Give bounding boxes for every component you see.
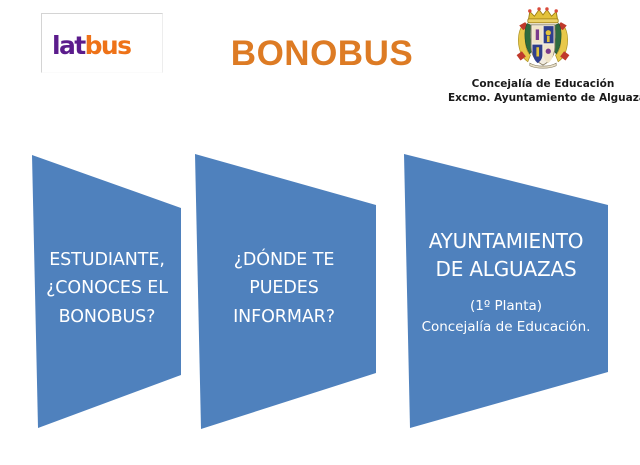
panel-estudiante-line-2: ¿CONOCES EL (26, 274, 188, 302)
panel-donde-informar[interactable]: ¿DÓNDE TE PUEDES INFORMAR? (190, 150, 382, 435)
panel-estudiante-line-1: ESTUDIANTE, (26, 246, 188, 274)
latbus-logo-part2: bus (85, 31, 131, 60)
crest-caption: Concejalía de Educación Excmo. Ayuntamie… (448, 77, 638, 105)
panel-ayuntamiento-text: AYUNTAMIENTO DE ALGUAZAS (1º Planta) Con… (398, 150, 614, 338)
latbus-logo-box: latbus (41, 13, 163, 73)
header-band: latbus BONOBUS (0, 0, 640, 140)
panel-estudiante-text: ESTUDIANTE, ¿CONOCES EL BONOBUS? (26, 150, 188, 331)
panel-ayuntamiento-line-1: AYUNTAMIENTO (398, 228, 614, 256)
crest-caption-line-2: Excmo. Ayuntamiento de Alguazas (448, 91, 638, 105)
panel-donde-informar-line-2: PUEDES (190, 274, 378, 302)
panel-ayuntamiento[interactable]: AYUNTAMIENTO DE ALGUAZAS (1º Planta) Con… (398, 150, 614, 435)
panel-donde-informar-text: ¿DÓNDE TE PUEDES INFORMAR? (190, 150, 382, 331)
crest-block: Concejalía de Educación Excmo. Ayuntamie… (448, 5, 638, 105)
latbus-logo-part1: lat (52, 31, 85, 60)
panel-estudiante[interactable]: ESTUDIANTE, ¿CONOCES EL BONOBUS? (26, 150, 188, 435)
panel-ayuntamiento-line-2: DE ALGUAZAS (398, 256, 614, 284)
crest-caption-line-1: Concejalía de Educación (448, 77, 638, 91)
panel-estudiante-line-3: BONOBUS? (26, 303, 188, 331)
panel-donde-informar-line-1: ¿DÓNDE TE (190, 246, 378, 274)
coat-of-arms-icon (510, 5, 576, 71)
panel-ayuntamiento-subline-2: Concejalía de Educación. (398, 317, 614, 338)
panel-donde-informar-line-3: INFORMAR? (190, 303, 378, 331)
latbus-logo-wordmark: latbus (52, 33, 130, 58)
page-title: BONOBUS (222, 36, 422, 71)
panel-ayuntamiento-subline-1: (1º Planta) (398, 296, 614, 317)
